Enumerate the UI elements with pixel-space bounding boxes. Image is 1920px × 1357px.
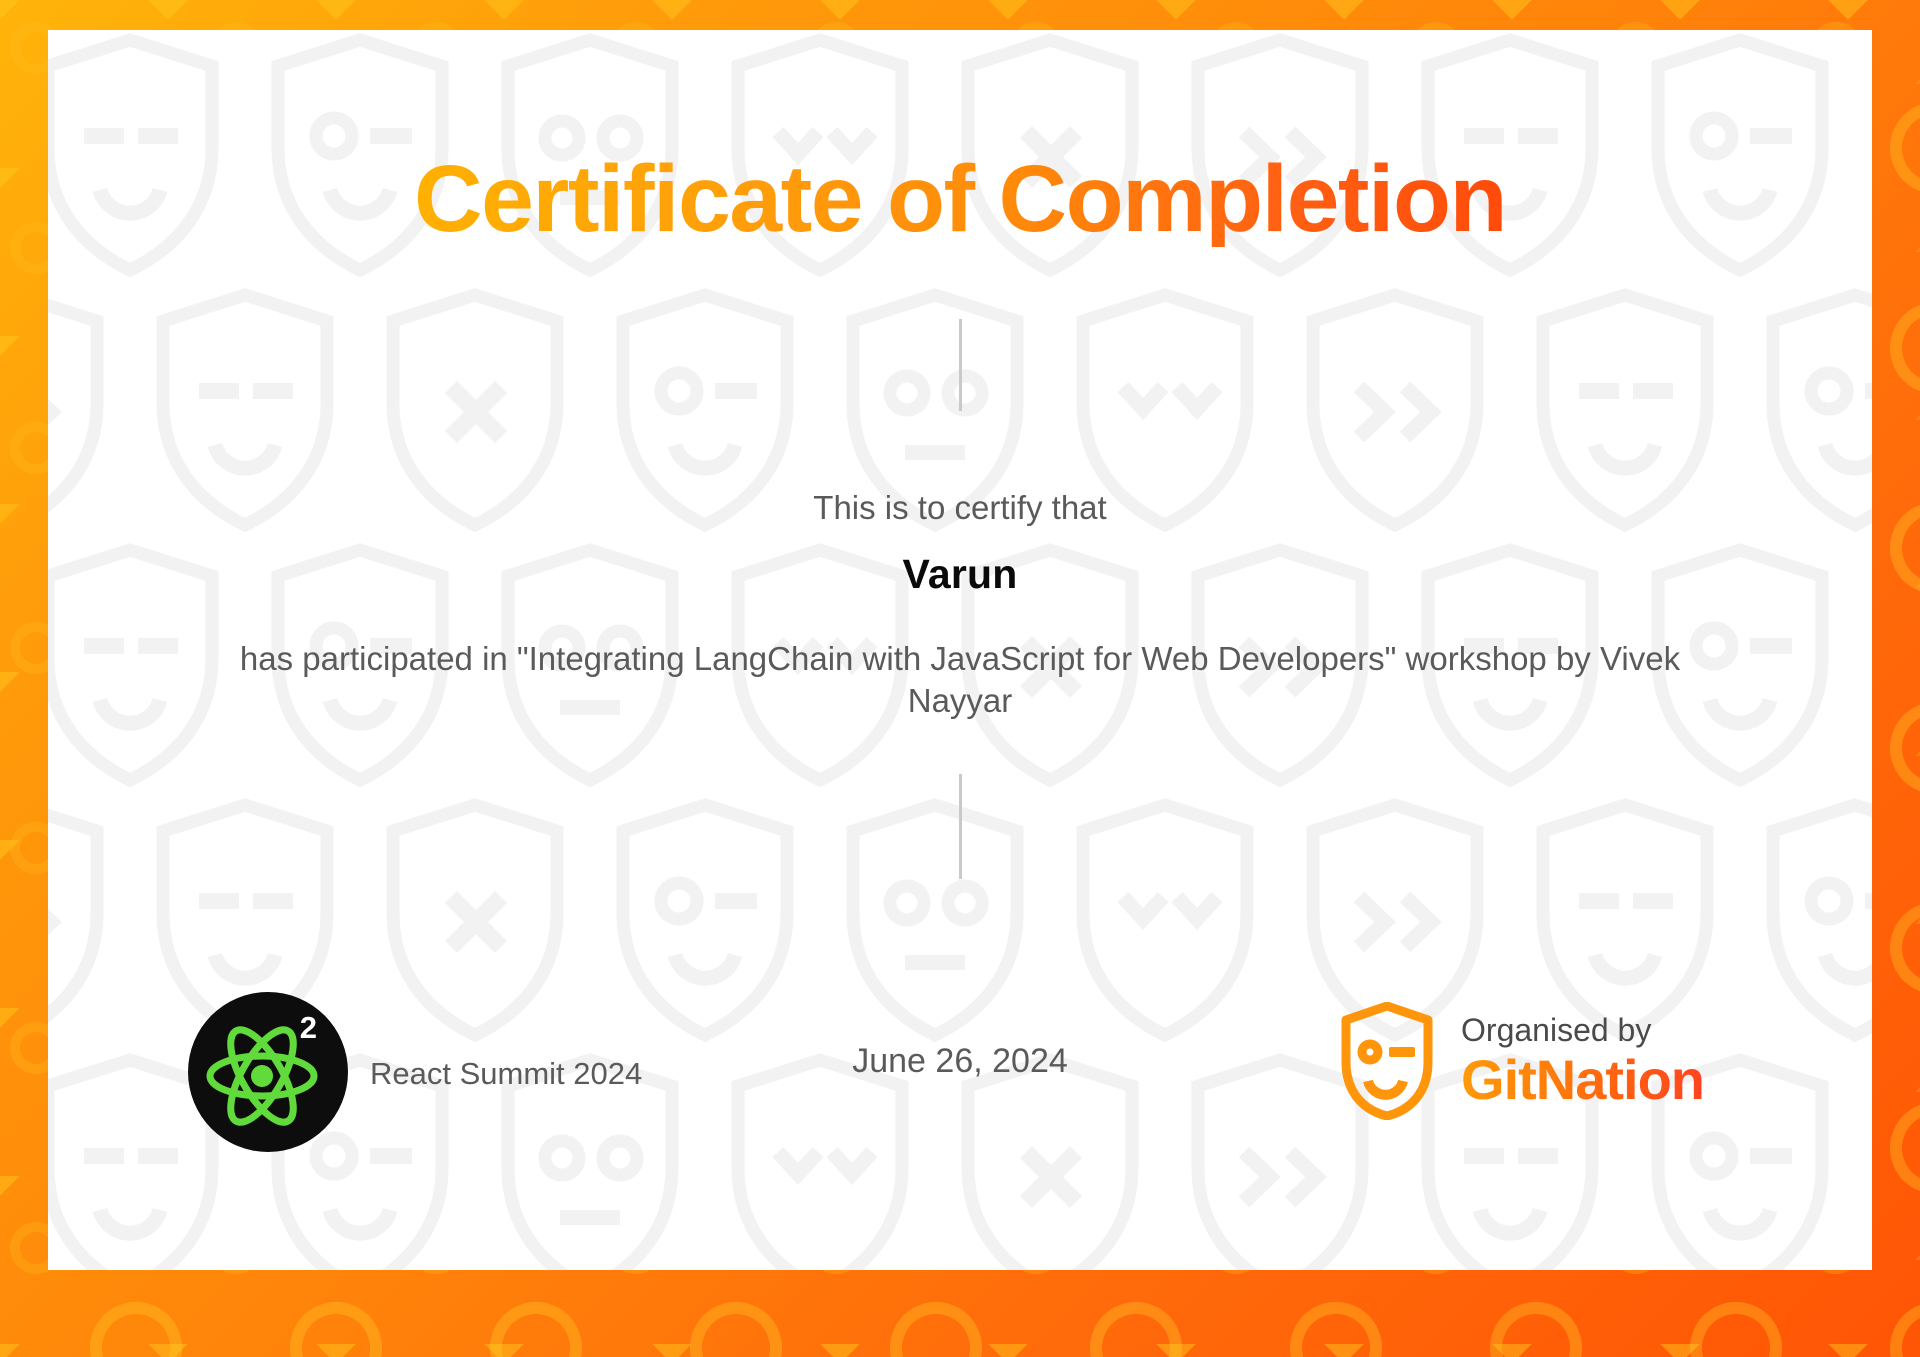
certificate-page: Certificate of Completion This is to cer… bbox=[0, 0, 1920, 1357]
organiser-name: GitNation bbox=[1461, 1052, 1704, 1108]
divider-top bbox=[959, 319, 962, 411]
certificate-card: Certificate of Completion This is to cer… bbox=[48, 30, 1872, 1270]
react-badge-superscript: 2 bbox=[300, 1012, 317, 1043]
certify-line: This is to certify that bbox=[813, 489, 1106, 527]
organiser-block: Organised by GitNation bbox=[1339, 1002, 1704, 1120]
recipient-name: Varun bbox=[903, 551, 1018, 598]
organiser-text: Organised by GitNation bbox=[1461, 1014, 1704, 1108]
organised-by-label: Organised by bbox=[1461, 1014, 1704, 1046]
divider-bottom bbox=[959, 774, 962, 879]
gitnation-shield-icon bbox=[1339, 1002, 1435, 1120]
certificate-footer: 2 React Summit 2024 June 26, 2024 Organi… bbox=[48, 994, 1872, 1144]
certificate-description: has participated in "Integrating LangCha… bbox=[210, 638, 1710, 722]
page-title: Certificate of Completion bbox=[414, 152, 1506, 247]
